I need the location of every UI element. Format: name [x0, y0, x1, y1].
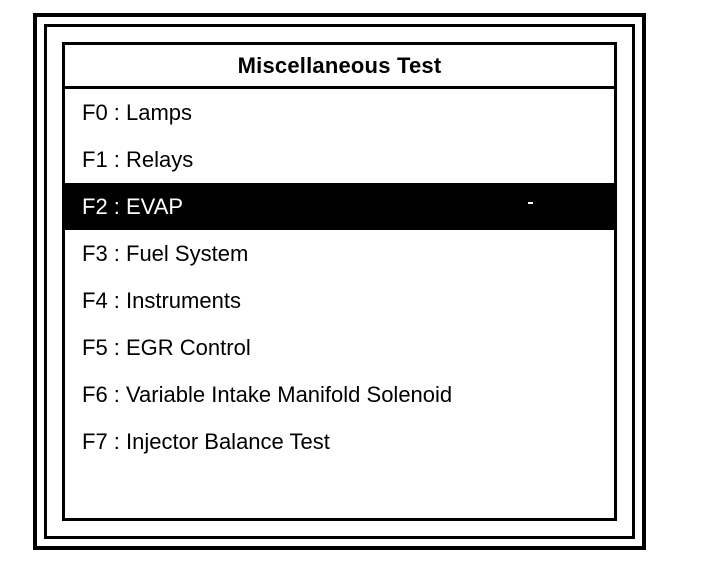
selection-speck-artifact — [528, 202, 533, 204]
menu-item-f7-injector-balance-test[interactable]: F7 : Injector Balance Test — [65, 418, 614, 465]
menu-item-label: F0 : Lamps — [82, 102, 192, 124]
menu-title-bar: Miscellaneous Test — [65, 45, 614, 89]
miscellaneous-test-menu-panel: Miscellaneous Test F0 : Lamps F1 : Relay… — [62, 42, 617, 521]
menu-item-f3-fuel-system[interactable]: F3 : Fuel System — [65, 230, 614, 277]
menu-item-f4-instruments[interactable]: F4 : Instruments — [65, 277, 614, 324]
menu-item-f1-relays[interactable]: F1 : Relays — [65, 136, 614, 183]
menu-list-empty-area — [65, 465, 614, 518]
menu-item-label: F7 : Injector Balance Test — [82, 431, 330, 453]
menu-list: F0 : Lamps F1 : Relays F2 : EVAP F3 : Fu… — [65, 89, 614, 518]
menu-item-f6-variable-intake-manifold-solenoid[interactable]: F6 : Variable Intake Manifold Solenoid — [65, 371, 614, 418]
middle-frame-border: Miscellaneous Test F0 : Lamps F1 : Relay… — [44, 24, 635, 539]
menu-item-f0-lamps[interactable]: F0 : Lamps — [65, 89, 614, 136]
outer-frame-border: Miscellaneous Test F0 : Lamps F1 : Relay… — [33, 13, 646, 550]
menu-item-label: F5 : EGR Control — [82, 337, 251, 359]
menu-item-f2-evap[interactable]: F2 : EVAP — [65, 183, 614, 230]
menu-item-label: F1 : Relays — [82, 149, 193, 171]
menu-item-label: F2 : EVAP — [82, 196, 183, 218]
menu-item-label: F6 : Variable Intake Manifold Solenoid — [82, 384, 452, 406]
menu-item-label: F4 : Instruments — [82, 290, 241, 312]
menu-item-f5-egr-control[interactable]: F5 : EGR Control — [65, 324, 614, 371]
page-title: Miscellaneous Test — [238, 55, 442, 77]
menu-item-label: F3 : Fuel System — [82, 243, 248, 265]
